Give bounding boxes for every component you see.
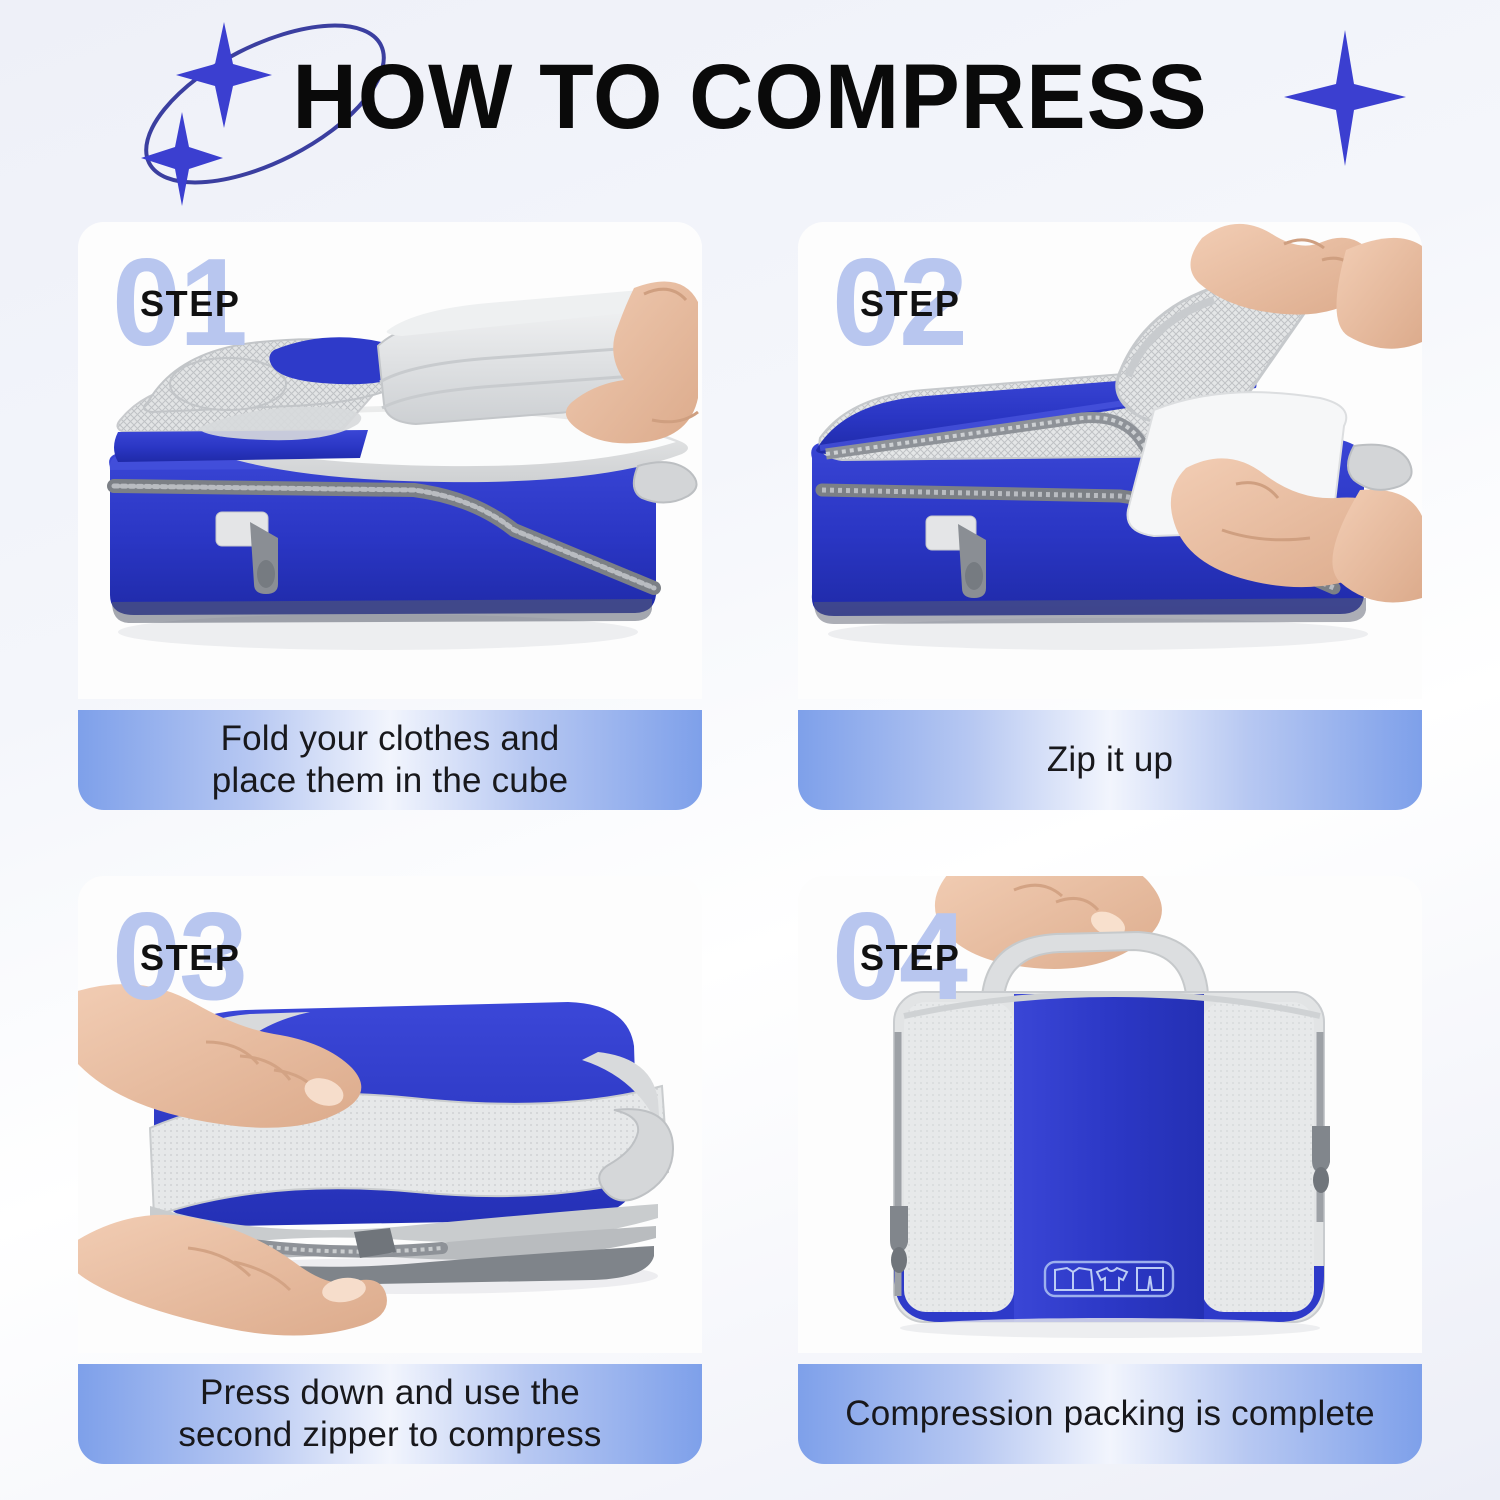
step-badge-04: 04 STEP [832, 892, 1072, 1022]
step-card-02: 02 STEP Zip it up [798, 222, 1422, 810]
step-photo-02: 02 STEP [798, 222, 1422, 699]
step-badge-02: 02 STEP [832, 238, 1072, 368]
step-word: STEP [140, 284, 240, 324]
step-card-03: 03 STEP Press down and use the second zi… [78, 876, 702, 1464]
caption-text: Compression packing is complete [845, 1393, 1375, 1435]
caption-text: Zip it up [1047, 739, 1173, 781]
step-word: STEP [860, 284, 960, 324]
step-badge-01: 01 STEP [112, 238, 352, 368]
step-caption-04: Compression packing is complete [798, 1364, 1422, 1464]
steps-grid: 01 STEP Fold your clothes and place them… [78, 222, 1422, 1464]
caption-text: Press down and use the second zipper to … [178, 1372, 601, 1456]
step-word: STEP [860, 938, 960, 978]
step-card-01: 01 STEP Fold your clothes and place them… [78, 222, 702, 810]
step-photo-01: 01 STEP [78, 222, 702, 699]
caption-text: Fold your clothes and place them in the … [212, 718, 569, 802]
step-badge-03: 03 STEP [112, 892, 352, 1022]
step-caption-01: Fold your clothes and place them in the … [78, 710, 702, 810]
step-word: STEP [140, 938, 240, 978]
step-caption-02: Zip it up [798, 710, 1422, 810]
step-card-04: 04 STEP Compression packing is complete [798, 876, 1422, 1464]
step-photo-04: 04 STEP [798, 876, 1422, 1353]
blue-panel [1014, 994, 1204, 1322]
step-photo-03: 03 STEP [78, 876, 702, 1353]
header: HOW TO COMPRESS [0, 0, 1500, 208]
step-caption-03: Press down and use the second zipper to … [78, 1364, 702, 1464]
page-title: HOW TO COMPRESS [23, 42, 1478, 152]
